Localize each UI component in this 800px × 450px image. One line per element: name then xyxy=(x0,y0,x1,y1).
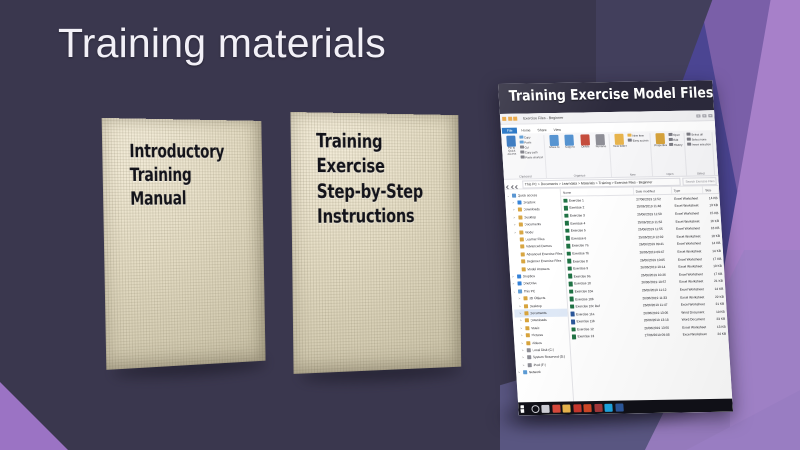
drive-icon xyxy=(527,363,532,367)
file-type-icon xyxy=(567,259,571,264)
file-type-icon xyxy=(566,244,570,249)
nav-item-label: OneDrive xyxy=(523,282,537,286)
cell-type: Excel Worksheet xyxy=(680,325,712,330)
chrome-icon[interactable] xyxy=(552,404,561,412)
access-icon[interactable] xyxy=(594,403,603,411)
cell-date-modified: 26/06/2019 11:47 xyxy=(641,303,679,308)
nav-item-label: Dropbox xyxy=(523,200,536,204)
item-label: Paste shortcut xyxy=(525,155,543,159)
skype-icon[interactable] xyxy=(604,403,613,411)
item-label: Open xyxy=(673,132,680,136)
file-name: Exercise 10c Ref xyxy=(576,304,600,308)
ribbon-group-open: PropertiesOpenEditHistoryOpen xyxy=(651,132,686,176)
chevron-right-icon[interactable]: > xyxy=(520,319,523,323)
cell-date-modified: 25/06/2019 12:02 xyxy=(636,235,674,240)
file-type-icon xyxy=(565,229,569,234)
cell-type: Excel Worksheet xyxy=(673,219,705,224)
item-label: Invert selection xyxy=(692,142,711,146)
nav-item-label: Desktop xyxy=(529,304,541,308)
ribbon-button-move-to[interactable]: Move to xyxy=(547,134,562,149)
cell-date-modified: 26/06/2019 09:47 xyxy=(637,250,675,255)
cell-name: Exercise 9 xyxy=(566,265,639,271)
slide-canvas: Training materials IntroductoryTrainingM… xyxy=(0,0,800,450)
ribbon-button-properties[interactable]: Properties xyxy=(653,133,668,148)
cell-type: Excel Worksheet xyxy=(674,234,706,239)
cell-size: 19 KB xyxy=(711,310,727,314)
download-icon xyxy=(524,319,529,323)
cell-name: Exercise 8 xyxy=(565,258,638,264)
nav-item-label: Downloads xyxy=(530,318,547,322)
nav-item-label: Pictures xyxy=(531,333,543,337)
ribbon-item-new-item[interactable]: New item xyxy=(628,133,648,137)
download-icon xyxy=(517,208,522,212)
file-type-icon xyxy=(564,206,568,211)
file-type-icon xyxy=(568,266,572,271)
file-type-icon xyxy=(564,213,568,218)
item-icon xyxy=(628,133,632,137)
cell-name: Exercise 7b xyxy=(565,250,638,256)
ribbon-item-copy-path[interactable]: Copy path xyxy=(520,150,543,154)
item-label: Paste xyxy=(524,140,531,144)
cell-size: 23 KB xyxy=(711,317,727,321)
explorer-body: ⌄Quick access>Dropbox>Downloads>Desktop>… xyxy=(505,186,733,415)
item-label: Copy xyxy=(524,135,531,139)
cell-type: Excel Worksheet xyxy=(675,249,707,254)
chevron-right-icon[interactable]: > xyxy=(523,363,526,367)
item-icon xyxy=(687,132,691,136)
chevron-right-icon[interactable]: ⌄ xyxy=(513,289,516,293)
ribbon-button-rename[interactable]: Rename xyxy=(593,134,608,149)
nav-item-label: Model xyxy=(525,230,534,234)
ribbon-group-label: Organize xyxy=(574,173,586,177)
file-type-icon xyxy=(570,304,574,309)
item-icon xyxy=(687,137,691,141)
nav-item-label: System Reserved (D:) xyxy=(533,355,566,360)
button-caption: Copy to xyxy=(565,146,575,149)
cell-type: Word Document xyxy=(680,317,712,322)
nav-item-label: Beginner Exercise Files xyxy=(527,259,562,264)
file-type-icon xyxy=(568,274,572,279)
cell-date-modified: 26/06/2019 13:05 xyxy=(641,310,679,315)
cell-date-modified: 26/06/2019 13:18 xyxy=(642,318,680,323)
cell-size: 18 KB xyxy=(706,226,722,230)
button-caption: Delete xyxy=(581,145,589,148)
file-name: Exercise 3 xyxy=(570,213,585,217)
nav-item-label: 3D Objects xyxy=(529,296,546,300)
table-row[interactable]: Exercise 1327/06/2019 09:08Excel Workshe… xyxy=(570,330,729,340)
ribbon-item-select-none[interactable]: Select none xyxy=(687,137,711,141)
chevron-right-icon[interactable]: > xyxy=(519,311,522,315)
item-label: New item xyxy=(632,133,644,137)
file-name: Exercise 4 xyxy=(570,221,585,225)
file-name: Exercise 1 xyxy=(569,198,584,202)
file-type-icon xyxy=(569,289,573,294)
ribbon-button-new-folder[interactable]: New folder xyxy=(612,133,627,148)
ribbon-button-delete[interactable]: Delete xyxy=(578,134,593,149)
chevron-right-icon[interactable]: > xyxy=(519,304,522,308)
cell-date-modified: 27/06/2019 11:52 xyxy=(634,197,672,202)
drive-icon xyxy=(527,355,532,359)
word-icon[interactable] xyxy=(615,403,624,411)
ribbon-item-paste[interactable]: Paste xyxy=(520,140,543,144)
item-icon xyxy=(521,155,525,159)
column-header-type[interactable]: Type xyxy=(671,186,703,194)
folder-icon xyxy=(519,237,524,241)
file-name: Exercise 11b xyxy=(576,319,594,323)
dropbox-icon xyxy=(517,201,522,205)
item-label: Select all xyxy=(691,132,703,136)
cell-date-modified: 27/06/2019 09:08 xyxy=(643,333,681,338)
nav-item-network[interactable]: >Network xyxy=(518,368,572,376)
file-name: Exercise 10 xyxy=(574,282,591,286)
ribbon-item-invert-selection[interactable]: Invert selection xyxy=(687,142,711,146)
chevron-right-icon[interactable]: > xyxy=(512,282,515,286)
file-name: Exercise 8 xyxy=(573,259,588,263)
nav-item-label: Model Answers xyxy=(527,267,550,271)
cell-name: Exercise 6 xyxy=(564,235,637,241)
cell-name: Exercise 10a xyxy=(567,288,640,294)
file-type-icon xyxy=(566,236,570,241)
cell-type: Excel Worksheet xyxy=(681,333,713,338)
ribbon-group-new: New folderNew itemEasy accessNew xyxy=(611,133,653,177)
documents-icon xyxy=(518,223,523,227)
item-icon xyxy=(668,133,672,137)
nav-item-label: Documents xyxy=(530,311,547,315)
explorer-window-title: Exercise Files - Beginner xyxy=(523,116,563,121)
cell-size: 21 KB xyxy=(710,302,726,306)
qat-icon[interactable] xyxy=(502,117,506,121)
ribbon-group-clipboard: Pin to Quick accessCopyPasteCutCopy path… xyxy=(502,135,547,179)
file-type-icon xyxy=(567,251,571,256)
button-glyph-icon xyxy=(615,133,625,144)
item-icon xyxy=(519,135,523,139)
pc-icon xyxy=(517,289,522,293)
cell-size: 15 KB xyxy=(705,211,721,215)
window-controls[interactable] xyxy=(696,114,712,117)
desktop-icon xyxy=(523,304,528,308)
screenshot-panel-model-files: Training Exercise Model Files Exercise F… xyxy=(498,80,733,415)
item-icon xyxy=(687,142,691,146)
cell-type: Excel Worksheet xyxy=(673,211,705,216)
file-name: Exercise 13 xyxy=(577,335,594,339)
button-glyph-icon xyxy=(580,134,590,145)
nav-item-label: Learner Files xyxy=(525,237,545,241)
documents-icon xyxy=(524,311,529,315)
cell-type: Excel Worksheet xyxy=(678,287,710,292)
nav-item-label: Quick access xyxy=(517,193,537,197)
column-header-name[interactable]: Name xyxy=(561,188,634,196)
network-icon xyxy=(523,370,528,374)
nav-item-label: This PC xyxy=(523,289,535,293)
cell-size: 16 KB xyxy=(705,219,721,223)
ribbon-group-label: New xyxy=(630,173,636,177)
ribbon-group-select: Select allSelect noneInvert selectionSel… xyxy=(685,132,715,176)
button-glyph-icon xyxy=(655,133,665,144)
cell-size: 17 KB xyxy=(707,256,723,260)
cell-date-modified: 26/06/2019 10:14 xyxy=(638,265,676,270)
ribbon-item-history[interactable]: History xyxy=(669,142,682,146)
chevron-right-icon[interactable]: > xyxy=(521,333,524,337)
chevron-right-icon[interactable]: > xyxy=(520,326,523,330)
file-type-icon xyxy=(571,319,575,324)
chevron-right-icon[interactable]: > xyxy=(514,223,517,227)
qat-icon[interactable] xyxy=(513,117,517,121)
chevron-right-icon[interactable]: ⌄ xyxy=(507,193,510,197)
folder-icon xyxy=(523,296,528,300)
cell-size: 18 KB xyxy=(706,234,722,238)
onedrive-icon xyxy=(517,282,522,286)
star-icon xyxy=(511,193,516,197)
file-type-icon xyxy=(570,297,574,302)
nav-item-label: Network xyxy=(529,370,541,374)
book-cover-training-exercise-instructions: TrainingExerciseStep-by-StepInstructions xyxy=(290,112,461,374)
item-label: Easy access xyxy=(633,138,649,142)
file-name: Exercise 10a xyxy=(575,289,594,293)
file-type-icon xyxy=(571,327,575,332)
cell-date-modified: 26/06/2019 10:05 xyxy=(638,257,676,262)
qat-icon[interactable] xyxy=(508,117,512,121)
cell-date-modified: 26/06/2019 11:12 xyxy=(640,288,678,293)
nav-item-label: Advanced Demos xyxy=(526,244,552,248)
ribbon-item-copy[interactable]: Copy xyxy=(519,135,542,139)
cell-date-modified: 26/06/2019 10:57 xyxy=(639,280,677,285)
file-explorer-window: Exercise Files - Beginner FileHomeShareV… xyxy=(500,110,733,415)
music-icon xyxy=(525,326,530,330)
file-name: Exercise 2 xyxy=(569,206,584,210)
cell-name: Exercise 10c Ref xyxy=(568,303,641,309)
start-button[interactable] xyxy=(520,405,529,413)
item-label: Cut xyxy=(524,145,529,149)
cell-name: Exercise 2 xyxy=(562,205,635,211)
item-icon xyxy=(520,140,524,144)
folder-icon xyxy=(519,230,524,234)
nav-item-label: Advanced Exercise Files xyxy=(526,252,562,257)
cell-date-modified: 26/06/2019 11:33 xyxy=(640,295,678,300)
cell-size: 14 KB xyxy=(706,241,722,245)
file-name: Exercise 7b xyxy=(572,251,589,255)
item-label: Select none xyxy=(692,137,707,141)
nav-item-label: Videos xyxy=(532,341,542,345)
panel-header: Training Exercise Model Files xyxy=(498,80,714,114)
cell-name: Exercise 13 xyxy=(570,333,643,339)
chevron-right-icon[interactable]: > xyxy=(512,275,515,279)
cell-type: Word Document xyxy=(679,310,711,315)
file-type-icon xyxy=(563,198,567,203)
book-title-text: IntroductoryTrainingManual xyxy=(129,140,265,212)
chevron-right-icon[interactable]: > xyxy=(518,297,521,301)
cell-name: Exercise 11b xyxy=(569,318,642,324)
dropbox-icon xyxy=(516,274,521,278)
nav-item-label: Dropbox xyxy=(523,274,536,278)
nav-item-label: iPod (F:) xyxy=(533,363,546,367)
button-glyph-icon xyxy=(565,134,575,145)
file-list-rows[interactable]: Exercise 127/06/2019 11:52Excel Workshee… xyxy=(561,194,728,341)
file-type-icon xyxy=(572,335,576,340)
file-name: Exercise 9 xyxy=(573,266,588,270)
ribbon-group-organize: Move toCopy toDeleteRenameOrganize xyxy=(545,134,612,179)
ribbon-group-label: Clipboard xyxy=(519,174,532,178)
cell-size: 19 KB xyxy=(708,264,724,268)
cell-name: Exercise 1 xyxy=(561,197,634,203)
file-name: Exercise 11a xyxy=(576,312,594,316)
cell-type: Excel Worksheet xyxy=(677,272,709,277)
cell-name: Exercise 7a xyxy=(564,242,637,248)
cell-size: 22 KB xyxy=(710,294,726,298)
cell-name: Exercise 10b xyxy=(568,296,641,302)
file-type-icon xyxy=(565,221,569,226)
chevron-right-icon[interactable]: > xyxy=(514,230,517,234)
close-button[interactable] xyxy=(708,114,712,117)
cell-date-modified: 25/06/2019 11:55 xyxy=(636,227,674,232)
button-caption: Move to xyxy=(549,146,559,149)
item-label: History xyxy=(674,142,683,146)
button-glyph-icon xyxy=(596,134,606,145)
nav-item-label: Downloads xyxy=(523,208,540,212)
cell-date-modified: 26/06/2019 13:55 xyxy=(642,325,680,330)
column-header-date-modified[interactable]: Date modified xyxy=(633,187,671,195)
desktop-icon xyxy=(518,215,523,219)
item-label: Copy path xyxy=(525,150,538,154)
cell-type: Excel Worksheet xyxy=(676,264,708,269)
button-caption: Pin to Quick access xyxy=(504,147,519,156)
button-glyph-icon xyxy=(549,134,559,145)
cell-name: Exercise 5 xyxy=(563,227,636,233)
item-icon xyxy=(669,138,673,142)
cell-type: Excel Worksheet xyxy=(679,302,711,307)
cell-date-modified: 25/06/2019 11:52 xyxy=(635,219,673,224)
chevron-right-icon[interactable]: > xyxy=(513,215,516,219)
ribbon-item-select-all[interactable]: Select all xyxy=(687,132,711,136)
folder-icon xyxy=(520,245,525,249)
cell-name: Exercise 9a xyxy=(566,273,639,279)
file-name: Exercise 6 xyxy=(571,236,586,240)
cell-type: Excel Worksheet xyxy=(672,196,704,201)
cell-size: 14 KB xyxy=(704,196,720,200)
drive-icon xyxy=(526,348,531,352)
cell-size: 14 KB xyxy=(709,287,725,291)
maximize-button[interactable] xyxy=(702,114,706,117)
cell-type: Excel Worksheet xyxy=(676,257,708,262)
cell-type: Excel Worksheet xyxy=(678,295,710,300)
cell-size: 24 KB xyxy=(712,332,728,336)
cell-size: 17 KB xyxy=(708,272,724,276)
folder-icon xyxy=(521,267,526,271)
cell-size: 13 KB xyxy=(712,325,728,329)
file-name: Exercise 10b xyxy=(575,297,594,301)
powerpoint-icon[interactable] xyxy=(583,404,592,412)
file-list-pane[interactable]: NameDate modifiedTypeSize Exercise 127/0… xyxy=(561,186,733,414)
ribbon-item-cut[interactable]: Cut xyxy=(520,145,543,149)
cell-size: 13 KB xyxy=(704,203,720,207)
file-explorer-icon[interactable] xyxy=(562,404,571,412)
chevron-right-icon[interactable]: > xyxy=(518,370,521,374)
item-icon xyxy=(669,143,673,147)
cell-type: Excel Worksheet xyxy=(672,204,704,209)
minimize-button[interactable] xyxy=(696,114,700,117)
ribbon-item-easy-access[interactable]: Easy access xyxy=(628,138,648,142)
cell-type: Excel Worksheet xyxy=(675,242,707,247)
chevron-right-icon[interactable]: > xyxy=(522,348,525,352)
folder-icon xyxy=(521,260,526,264)
ribbon-item-edit[interactable]: Edit xyxy=(669,137,682,141)
item-icon xyxy=(520,150,524,154)
book-front-face: TrainingExerciseStep-by-StepInstructions xyxy=(290,112,461,374)
file-name: Exercise 5 xyxy=(571,229,586,233)
ribbon[interactable]: Pin to Quick accessCopyPasteCutCopy path… xyxy=(501,130,718,180)
chevron-right-icon[interactable]: > xyxy=(521,341,524,345)
nav-item-label: Documents xyxy=(524,222,541,226)
file-type-icon xyxy=(569,282,573,287)
cell-name: Exercise 11a xyxy=(568,311,641,317)
book-cover-introductory-training-manual: IntroductoryTrainingManual xyxy=(102,118,266,370)
chevron-right-icon[interactable]: > xyxy=(512,201,515,205)
nav-item-label: Local Disk (C:) xyxy=(532,348,554,352)
item-label: Edit xyxy=(673,137,678,141)
ribbon-item-open[interactable]: Open xyxy=(668,132,681,136)
cell-date-modified: 25/06/2019 11:50 xyxy=(635,212,673,217)
file-name: Exercise 12 xyxy=(577,327,594,331)
page-title: Training materials xyxy=(58,20,386,67)
file-name: Exercise 9a xyxy=(574,274,591,278)
videos-icon xyxy=(526,341,531,345)
column-header-size[interactable]: Size xyxy=(703,186,719,193)
button-glyph-icon xyxy=(506,135,516,146)
task-view-icon[interactable] xyxy=(541,404,550,412)
cell-date-modified: 26/06/2019 10:26 xyxy=(639,272,677,277)
ribbon-item-paste-shortcut[interactable]: Paste shortcut xyxy=(521,155,544,159)
quick-access-toolbar[interactable] xyxy=(502,117,517,121)
cell-name: Exercise 4 xyxy=(563,220,636,226)
cell-date-modified: 25/06/2019 11:48 xyxy=(635,204,673,209)
book-title-text: TrainingExerciseStep-by-StepInstructions xyxy=(316,128,461,229)
search-input[interactable]: Search Exercise Files xyxy=(682,177,717,186)
file-name: Exercise 7a xyxy=(572,244,589,248)
button-caption: New folder xyxy=(613,145,627,148)
file-type-icon xyxy=(570,312,574,317)
chevron-right-icon[interactable]: > xyxy=(522,356,525,360)
cell-name: Exercise 3 xyxy=(562,212,635,218)
cell-size: 21 KB xyxy=(709,279,725,283)
pdf-reader-icon[interactable] xyxy=(573,404,582,412)
folder-icon xyxy=(520,252,525,256)
pictures-icon xyxy=(525,333,530,337)
item-icon xyxy=(520,145,524,149)
button-caption: Properties xyxy=(654,144,667,147)
cell-type: Excel Worksheet xyxy=(674,226,706,231)
cell-type: Excel Worksheet xyxy=(677,279,709,284)
nav-item-label: Desktop xyxy=(524,215,536,219)
ribbon-button-pin-to-quick-access[interactable]: Pin to Quick access xyxy=(504,135,519,156)
chevron-right-icon[interactable]: > xyxy=(513,208,516,212)
item-icon xyxy=(628,138,632,142)
cell-date-modified: 26/06/2019 09:41 xyxy=(637,242,675,247)
book-front-face: IntroductoryTrainingManual xyxy=(102,118,266,370)
ribbon-group-label: Select xyxy=(697,171,705,175)
button-caption: Rename xyxy=(596,145,607,148)
panel-header-label: Training Exercise Model Files xyxy=(508,85,713,105)
cell-name: Exercise 10 xyxy=(567,280,640,286)
cell-name: Exercise 12 xyxy=(569,326,642,332)
cell-size: 14 KB xyxy=(707,249,723,253)
ribbon-button-copy-to[interactable]: Copy to xyxy=(562,134,577,149)
nav-item-label: Music xyxy=(531,326,540,330)
search-icon[interactable] xyxy=(531,405,540,413)
ribbon-group-label: Open xyxy=(666,172,673,176)
